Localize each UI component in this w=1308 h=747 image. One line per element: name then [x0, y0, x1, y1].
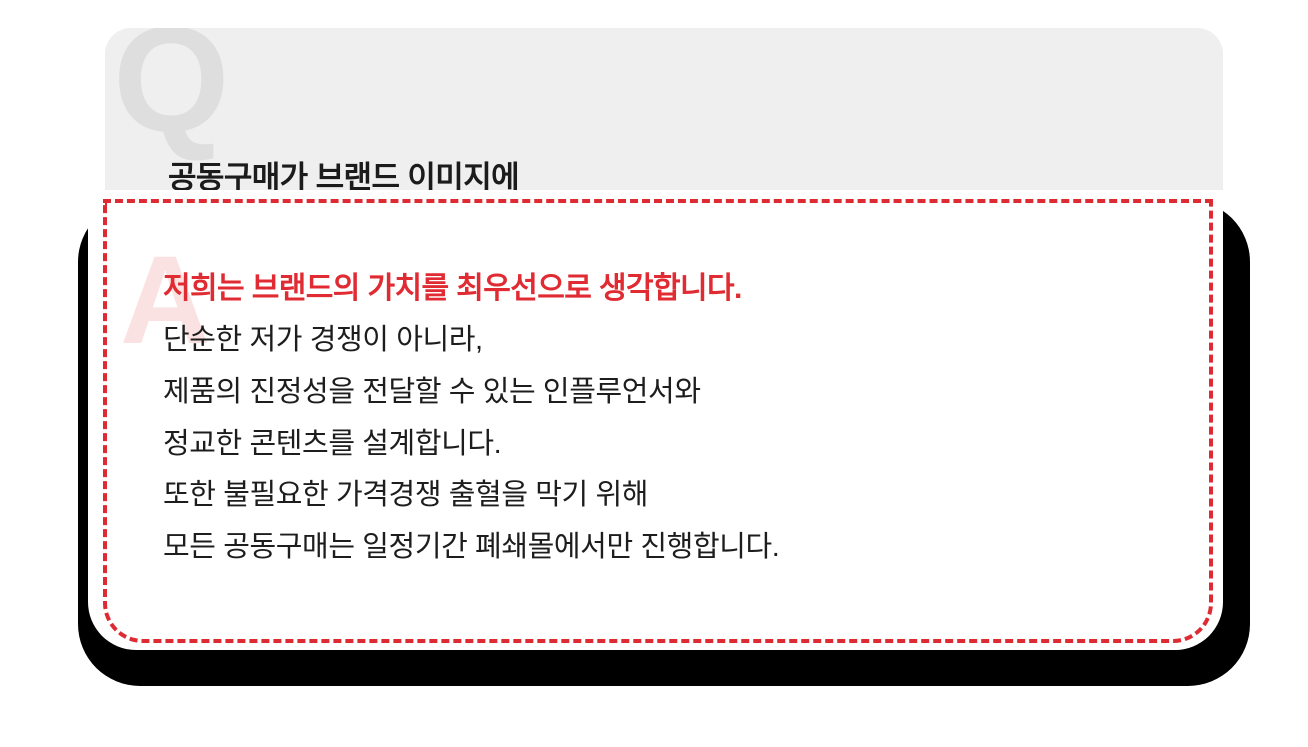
answer-line-2: 제품의 진정성을 전달할 수 있는 인플루언서와: [163, 367, 1103, 419]
faq-card-stage: Q 공동구매가 브랜드 이미지에 부정적인 영향을 주지는 않을까요? A 저희…: [0, 0, 1308, 747]
answer-text-block: 저희는 브랜드의 가치를 최우선으로 생각합니다. 단순한 저가 경쟁이 아니라…: [163, 268, 1103, 573]
question-text: 공동구매가 브랜드 이미지에 부정적인 영향을 주지는 않을까요?: [168, 68, 601, 200]
answer-line-4: 또한 불필요한 가격경쟁 출혈을 막기 위해: [163, 470, 1103, 522]
answer-headline: 저희는 브랜드의 가치를 최우선으로 생각합니다.: [163, 268, 1103, 309]
answer-line-3: 정교한 콘텐츠를 설계합니다.: [163, 419, 1103, 471]
answer-line-5: 모든 공동구매는 일정기간 폐쇄몰에서만 진행합니다.: [163, 522, 1103, 574]
question-card: Q 공동구매가 브랜드 이미지에 부정적인 영향을 주지는 않을까요?: [105, 28, 1223, 200]
answer-line-1: 단순한 저가 경쟁이 아니라,: [163, 315, 1103, 367]
